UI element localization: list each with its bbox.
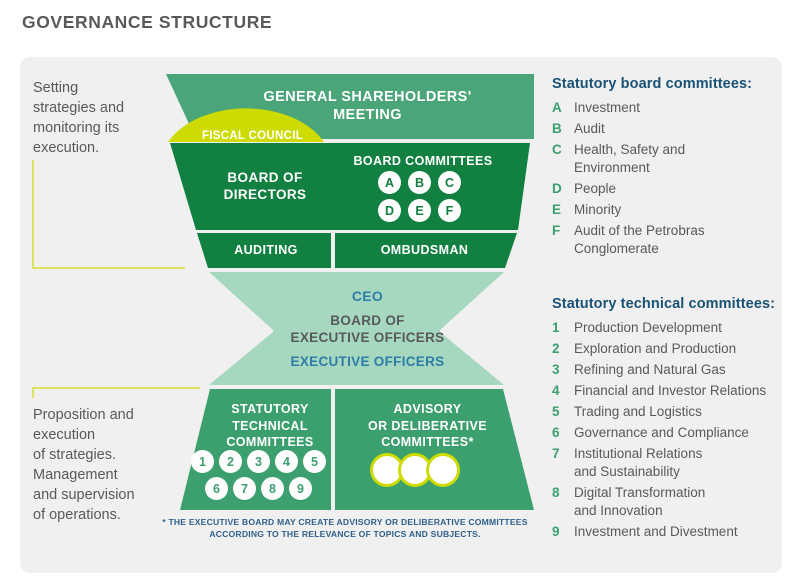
- technical-committee-circle-5[interactable]: 5: [303, 450, 326, 473]
- technical-committee-circle-4[interactable]: 4: [275, 450, 298, 473]
- legend-key: 4: [552, 382, 574, 400]
- legend-text: Digital Transformation and Innovation: [574, 484, 705, 520]
- legend-text: Trading and Logistics: [574, 403, 702, 421]
- board-committee-circle-e[interactable]: E: [408, 199, 431, 222]
- legend-text: People: [574, 180, 616, 198]
- side-note-top: Setting strategies and monitoring its ex…: [33, 78, 183, 158]
- legend-key: 1: [552, 319, 574, 337]
- legend-key: F: [552, 222, 574, 240]
- list-item: 7 Institutional Relations and Sustainabi…: [552, 445, 782, 481]
- label-advisory-committees: ADVISORY OR DELIBERATIVE COMMITTEES*: [345, 401, 510, 451]
- legend-text: Financial and Investor Relations: [574, 382, 766, 400]
- label-general-shareholders-meeting: GENERAL SHAREHOLDERS' MEETING: [205, 88, 530, 124]
- list-item: 4 Financial and Investor Relations: [552, 382, 782, 400]
- list-item: E Minority: [552, 201, 782, 219]
- legend-text: Investment and Divestment: [574, 523, 738, 541]
- footnote: * THE EXECUTIVE BOARD MAY CREATE ADVISOR…: [155, 516, 535, 540]
- legend-text: Audit: [574, 120, 605, 138]
- legend-key: B: [552, 120, 574, 138]
- board-committee-circle-c[interactable]: C: [438, 171, 461, 194]
- side-note-bottom: Proposition and execution of strategies.…: [33, 405, 193, 525]
- list-item: 2 Exploration and Production: [552, 340, 782, 358]
- board-committee-circle-d[interactable]: D: [378, 199, 401, 222]
- legend-board-title: Statutory board committees:: [552, 76, 782, 92]
- legend-key: 6: [552, 424, 574, 442]
- advisory-circle-3: [426, 453, 460, 487]
- list-item: 6 Governance and Compliance: [552, 424, 782, 442]
- legend-key: 8: [552, 484, 574, 502]
- label-board-of-directors: BOARD OF DIRECTORS: [185, 169, 345, 203]
- legend-key: 3: [552, 361, 574, 379]
- legend-text: Investment: [574, 99, 640, 117]
- legend-statutory-board-committees: Statutory board committees: A Investment…: [552, 76, 782, 261]
- legend-key: 2: [552, 340, 574, 358]
- legend-text: Health, Safety and Environment: [574, 141, 685, 177]
- legend-tech-title: Statutory technical committees:: [552, 296, 782, 312]
- executive-board-text-block: CEO BOARD OF EXECUTIVE OFFICERS EXECUTIV…: [230, 288, 505, 369]
- board-committee-circle-b[interactable]: B: [408, 171, 431, 194]
- technical-committee-circle-9[interactable]: 9: [289, 477, 312, 500]
- legend-text: Governance and Compliance: [574, 424, 749, 442]
- board-committee-circle-f[interactable]: F: [438, 199, 461, 222]
- list-item: B Audit: [552, 120, 782, 138]
- label-board-committees: BOARD COMMITTEES: [338, 153, 508, 169]
- list-item: C Health, Safety and Environment: [552, 141, 782, 177]
- list-item: D People: [552, 180, 782, 198]
- legend-text: Institutional Relations and Sustainabili…: [574, 445, 702, 481]
- legend-key: D: [552, 180, 574, 198]
- legend-key: E: [552, 201, 574, 219]
- legend-statutory-technical-committees: Statutory technical committees: 1 Produc…: [552, 296, 782, 544]
- technical-committee-circles-top: 1 2 3 4 5: [191, 450, 331, 473]
- list-item: F Audit of the Petrobras Conglomerate: [552, 222, 782, 258]
- legend-text: Refining and Natural Gas: [574, 361, 726, 379]
- legend-key: 7: [552, 445, 574, 463]
- label-ceo: CEO: [230, 288, 505, 304]
- label-fiscal-council: FISCAL COUNCIL: [170, 128, 335, 144]
- list-item: 5 Trading and Logistics: [552, 403, 782, 421]
- legend-text: Minority: [574, 201, 621, 219]
- label-statutory-technical-committees: STATUTORY TECHNICAL COMMITTEES: [190, 401, 350, 451]
- label-ombudsman: OMBUDSMAN: [342, 242, 507, 258]
- list-item: 1 Production Development: [552, 319, 782, 337]
- board-committee-circles-top: A B C: [378, 171, 468, 194]
- label-board-of-executive-officers: BOARD OF EXECUTIVE OFFICERS: [230, 312, 505, 346]
- legend-key: 5: [552, 403, 574, 421]
- legend-key: 9: [552, 523, 574, 541]
- label-auditing: AUDITING: [196, 242, 336, 258]
- bracket-top: [33, 160, 185, 268]
- technical-committee-circle-8[interactable]: 8: [261, 477, 284, 500]
- legend-text: Audit of the Petrobras Conglomerate: [574, 222, 705, 258]
- advisory-committee-circles: [370, 453, 470, 489]
- legend-text: Exploration and Production: [574, 340, 736, 358]
- legend-key: C: [552, 141, 574, 159]
- board-committee-circle-a[interactable]: A: [378, 171, 401, 194]
- label-executive-officers: EXECUTIVE OFFICERS: [230, 354, 505, 369]
- list-item: 3 Refining and Natural Gas: [552, 361, 782, 379]
- legend-text: Production Development: [574, 319, 722, 337]
- technical-committee-circle-6[interactable]: 6: [205, 477, 228, 500]
- technical-committee-circle-2[interactable]: 2: [219, 450, 242, 473]
- technical-committee-circle-3[interactable]: 3: [247, 450, 270, 473]
- list-item: 9 Investment and Divestment: [552, 523, 782, 541]
- technical-committee-circles-bottom: 6 7 8 9: [205, 477, 317, 500]
- bracket-bottom: [33, 388, 200, 398]
- list-item: 8 Digital Transformation and Innovation: [552, 484, 782, 520]
- board-committee-circles-bottom: D E F: [378, 199, 468, 222]
- legend-key: A: [552, 99, 574, 117]
- technical-committee-circle-1[interactable]: 1: [191, 450, 214, 473]
- technical-committee-circle-7[interactable]: 7: [233, 477, 256, 500]
- list-item: A Investment: [552, 99, 782, 117]
